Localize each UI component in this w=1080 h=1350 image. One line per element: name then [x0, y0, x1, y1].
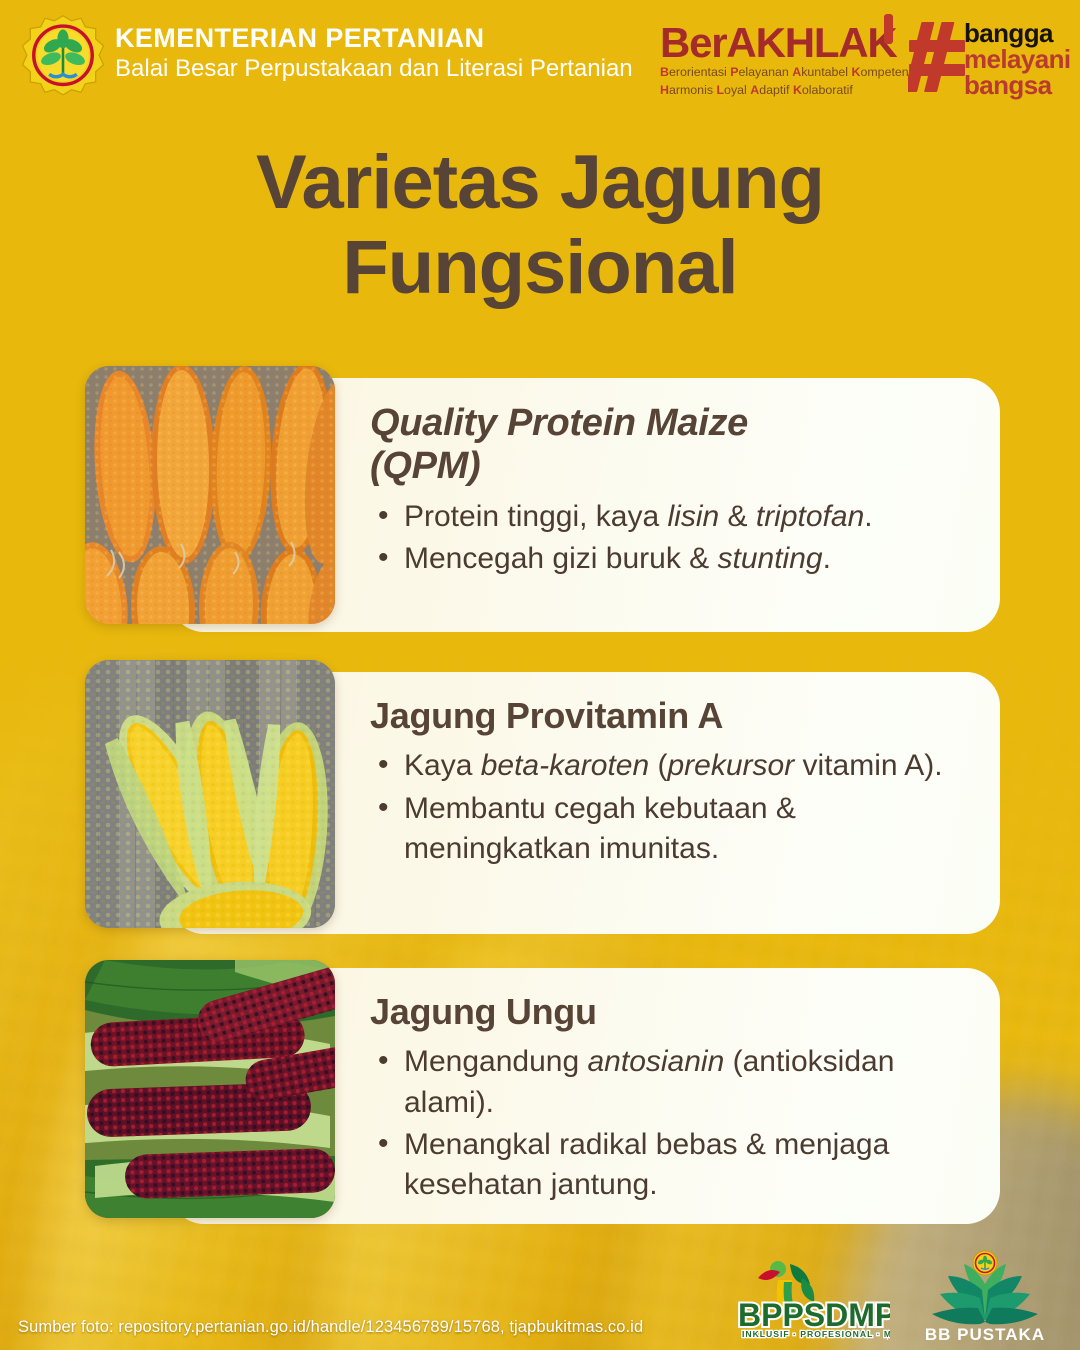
- bangga-line3: bangsa: [964, 72, 1071, 98]
- card-bullet-list: Protein tinggi, kaya lisin & triptofan. …: [370, 497, 974, 579]
- purple-red-corn-photo: [85, 960, 335, 1218]
- bangga-wordmark: bangga melayani bangsa: [964, 20, 1071, 98]
- bbpustaka-book-leaf-icon: BB PUSTAKA: [910, 1250, 1060, 1342]
- orange-dried-corn-cobs-photo: [85, 366, 335, 624]
- ministry-name: KEMENTERIAN PERTANIAN: [115, 24, 633, 53]
- header-bar: KEMENTERIAN PERTANIAN Balai Besar Perpus…: [0, 0, 1080, 112]
- list-item: Kaya beta-karoten (prekursor vitamin A).: [370, 746, 974, 786]
- berakhlak-tagline-line1: Berorientasi Pelayanan Akuntabel Kompete…: [660, 65, 885, 81]
- card-body: Jagung Provitamin A Kaya beta-karoten (p…: [370, 696, 974, 871]
- list-item: Menangkal radikal bebas & menjaga keseha…: [370, 1125, 974, 1205]
- card-heading: Quality Protein Maize (QPM): [370, 402, 974, 487]
- card-body: Jagung Ungu Mengandung antosianin (antio…: [370, 992, 974, 1207]
- kementan-badge-icon: [20, 14, 106, 100]
- ministry-text-block: KEMENTERIAN PERTANIAN Balai Besar Perpus…: [115, 24, 633, 83]
- card-heading-line1: Quality Protein Maize: [370, 402, 974, 445]
- card-body: Quality Protein Maize (QPM) Protein ting…: [370, 402, 974, 581]
- bppsdmp-name: BPPSDMP: [738, 1297, 890, 1333]
- berakhlak-tagline-line2: Harmonis Loyal Adaptif Kolaboratif: [660, 83, 885, 99]
- bangga-melayani-bangsa-logo: bangga melayani bangsa: [908, 18, 1068, 98]
- list-item: Mencegah gizi buruk & stunting.: [370, 539, 974, 579]
- page-title-line2: Fungsional: [0, 225, 1080, 310]
- list-item: Mengandung antosianin (antioksidan alami…: [370, 1042, 974, 1122]
- bangga-line2: melayani: [964, 46, 1071, 72]
- berakhlak-tick-icon: [884, 14, 893, 44]
- list-item: Membantu cegah kebutaan & meningkatkan i…: [370, 789, 974, 869]
- source-credit: Sumber foto: repository.pertanian.go.id/…: [18, 1318, 643, 1337]
- card-bullet-list: Mengandung antosianin (antioksidan alami…: [370, 1042, 974, 1205]
- card-heading-line2: (QPM): [370, 445, 974, 488]
- bppsdmp-tagline: INKLUSIF · PROFESIONAL · MODERN: [742, 1329, 890, 1339]
- page-title: Varietas Jagung Fungsional: [0, 140, 1080, 310]
- page-title-line1: Varietas Jagung: [0, 140, 1080, 225]
- berakhlak-word-text: BerAKHLAK: [660, 19, 897, 66]
- yellow-sweet-corn-photo: [85, 660, 335, 928]
- hashtag-icon: [908, 20, 966, 94]
- card-bullet-list: Kaya beta-karoten (prekursor vitamin A).…: [370, 746, 974, 869]
- card-heading: Jagung Ungu: [370, 992, 974, 1032]
- berakhlak-wordmark: BerAKHLAK: [660, 22, 885, 63]
- list-item: Protein tinggi, kaya lisin & triptofan.: [370, 497, 974, 537]
- berakhlak-logo: BerAKHLAK Berorientasi Pelayanan Akuntab…: [660, 22, 885, 99]
- bbpustaka-name: BB PUSTAKA: [925, 1325, 1045, 1342]
- bppsdmp-logo-icon: BPPSDMP INKLUSIF · PROFESIONAL · MODERN: [718, 1252, 890, 1340]
- ministry-unit: Balai Besar Perpustakaan dan Literasi Pe…: [115, 55, 633, 83]
- card-heading: Jagung Provitamin A: [370, 696, 974, 736]
- bangga-line1: bangga: [964, 20, 1071, 46]
